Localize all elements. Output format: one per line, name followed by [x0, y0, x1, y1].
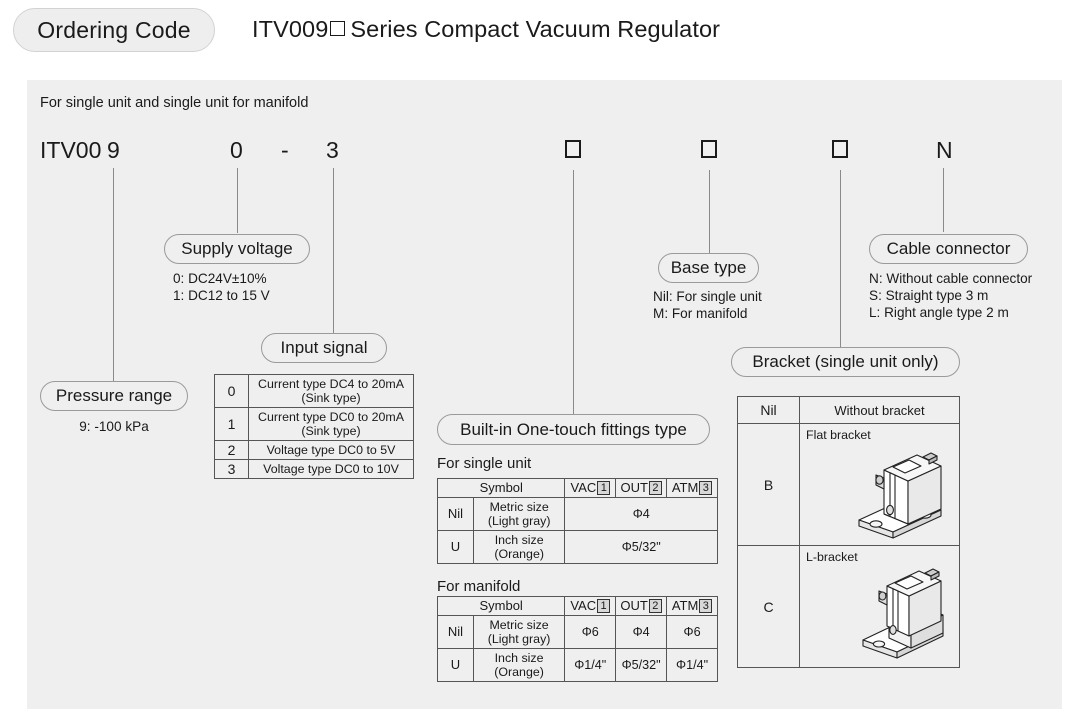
table-row: 1 Current type DC0 to 20mA (Sink type): [215, 408, 414, 441]
table-row: B Flat bracket: [738, 424, 960, 546]
series-code-prefix: ITV009: [252, 16, 328, 42]
callout-supply-voltage-label: Supply voltage: [181, 239, 293, 259]
callout-pressure-range: Pressure range: [40, 381, 188, 411]
code-base-type-box-icon: [701, 140, 717, 158]
col-vac: VAC1: [565, 597, 616, 616]
callout-fittings: Built-in One-touch fittings type: [437, 414, 710, 445]
col-symbol: Symbol: [438, 597, 565, 616]
col-out: OUT2: [616, 479, 667, 498]
table-row: Nil Metric size (Light gray) Φ4: [438, 498, 718, 531]
leader-line-cable-connector: [943, 168, 944, 232]
leader-line-base-type: [709, 170, 710, 253]
code-dash: -: [281, 139, 289, 162]
callout-supply-voltage: Supply voltage: [164, 234, 310, 264]
col-vac-text: VAC: [571, 480, 597, 495]
fitting-value-vac: Φ6: [565, 616, 616, 649]
col-atm: ATM3: [667, 479, 718, 498]
col-vac-text: VAC: [570, 598, 596, 613]
panel-subheading: For single unit and single unit for mani…: [40, 95, 308, 111]
code-supply-digit: 0: [230, 139, 243, 162]
code-base: ITV00: [40, 139, 101, 162]
input-signal-table: 0 Current type DC4 to 20mA (Sink type) 1…: [214, 374, 414, 479]
bracket-description: Without bracket: [800, 397, 960, 424]
table-row: U Inch size (Orange) Φ5/32": [438, 531, 718, 564]
leader-line-input-signal: [333, 168, 334, 334]
callout-input-signal-label: Input signal: [281, 338, 368, 358]
table-row: U Inch size (Orange) Φ1/4" Φ5/32" Φ1/4": [438, 649, 718, 682]
table-header-row: Nil Without bracket: [738, 397, 960, 424]
callout-input-signal: Input signal: [261, 333, 387, 363]
flat-bracket-regulator-illustration: [837, 436, 955, 543]
fitting-size-label: Inch size (Orange): [473, 649, 565, 682]
ordering-code-diagram: Ordering Code ITV009Series Compact Vacuu…: [0, 0, 1080, 728]
callout-base-type: Base type: [658, 253, 759, 283]
port-number-badge: 1: [597, 599, 610, 613]
fitting-value-all-ports: Φ4: [565, 498, 718, 531]
col-atm-text: ATM: [672, 598, 698, 613]
input-desc: Voltage type DC0 to 5V: [249, 441, 414, 460]
fittings-single-table: Symbol VAC1 OUT2 ATM3 Nil Metric size (L…: [437, 478, 718, 564]
ordering-code-badge: Ordering Code: [13, 8, 215, 52]
table-row: 2 Voltage type DC0 to 5V: [215, 441, 414, 460]
col-atm-text: ATM: [672, 480, 698, 495]
fitting-symbol: Nil: [438, 616, 474, 649]
bracket-image-cell: Flat bracket: [800, 424, 960, 546]
col-atm: ATM3: [667, 597, 718, 616]
col-out-text: OUT: [620, 480, 647, 495]
input-desc: Current type DC4 to 20mA (Sink type): [249, 375, 414, 408]
fittings-single-label: For single unit: [437, 455, 531, 472]
col-vac: VAC1: [565, 479, 616, 498]
leader-line-pressure-range: [113, 168, 114, 383]
port-number-badge: 2: [649, 481, 662, 495]
col-symbol: Symbol: [438, 479, 565, 498]
callout-bracket: Bracket (single unit only): [731, 347, 960, 377]
table-row: 3 Voltage type DC0 to 10V: [215, 460, 414, 479]
input-code: 0: [215, 375, 249, 408]
fittings-manifold-table: Symbol VAC1 OUT2 ATM3 Nil Metric size (L…: [437, 596, 718, 682]
code-pressure-digit: 9: [107, 139, 120, 162]
table-row: C L-bracket: [738, 546, 960, 668]
code-fitting-box-icon: [565, 140, 581, 158]
table-header-row: Symbol VAC1 OUT2 ATM3: [438, 479, 718, 498]
col-out-text: OUT: [620, 598, 647, 613]
callout-pressure-range-label: Pressure range: [56, 386, 172, 406]
bracket-table: Nil Without bracket B Flat bracket: [737, 396, 960, 668]
table-row: 0 Current type DC4 to 20mA (Sink type): [215, 375, 414, 408]
fitting-symbol: U: [438, 649, 474, 682]
input-code: 2: [215, 441, 249, 460]
col-out: OUT2: [616, 597, 667, 616]
fitting-value-out: Φ5/32": [616, 649, 667, 682]
port-number-badge: 3: [699, 481, 712, 495]
callout-cable-connector-label: Cable connector: [887, 239, 1011, 259]
port-number-badge: 3: [699, 599, 712, 613]
table-header-row: Symbol VAC1 OUT2 ATM3: [438, 597, 718, 616]
supply-voltage-note: 0: DC24V±10% 1: DC12 to 15 V: [173, 270, 333, 304]
fitting-value-out: Φ4: [616, 616, 667, 649]
code-cable-letter: N: [936, 139, 953, 162]
callout-base-type-label: Base type: [671, 258, 747, 278]
square-placeholder-icon: [330, 21, 345, 36]
input-desc: Voltage type DC0 to 10V: [249, 460, 414, 479]
leader-line-supply-voltage: [237, 168, 238, 233]
pressure-range-note: 9: -100 kPa: [40, 418, 188, 435]
base-type-note: Nil: For single unit M: For manifold: [653, 288, 833, 322]
ordering-code-badge-label: Ordering Code: [37, 17, 190, 44]
fitting-size-label: Inch size (Orange): [473, 531, 565, 564]
bracket-symbol: B: [738, 424, 800, 546]
callout-cable-connector: Cable connector: [869, 234, 1028, 264]
fittings-manifold-label: For manifold: [437, 578, 520, 595]
fitting-symbol: Nil: [438, 498, 474, 531]
bracket-symbol: Nil: [738, 397, 800, 424]
bracket-symbol: C: [738, 546, 800, 668]
input-desc: Current type DC0 to 20mA (Sink type): [249, 408, 414, 441]
port-number-badge: 2: [649, 599, 662, 613]
fitting-size-label: Metric size (Light gray): [473, 498, 565, 531]
fitting-value-all-ports: Φ5/32": [565, 531, 718, 564]
bracket-image-cell: L-bracket: [800, 546, 960, 668]
page-title: ITV009Series Compact Vacuum Regulator: [252, 16, 720, 43]
callout-fittings-label: Built-in One-touch fittings type: [460, 420, 687, 440]
input-code: 3: [215, 460, 249, 479]
code-signal-digit: 3: [326, 139, 339, 162]
l-bracket-regulator-illustration: [837, 558, 955, 665]
input-code: 1: [215, 408, 249, 441]
leader-line-fittings: [573, 170, 574, 414]
callout-bracket-label: Bracket (single unit only): [752, 352, 938, 372]
port-number-badge: 1: [597, 481, 610, 495]
fitting-value-vac: Φ1/4": [565, 649, 616, 682]
leader-line-bracket: [840, 170, 841, 347]
fitting-value-atm: Φ6: [667, 616, 718, 649]
cable-connector-note: N: Without cable connector S: Straight t…: [869, 270, 1079, 321]
fitting-value-atm: Φ1/4": [667, 649, 718, 682]
code-bracket-box-icon: [832, 140, 848, 158]
fitting-symbol: U: [438, 531, 474, 564]
fitting-size-label: Metric size (Light gray): [473, 616, 565, 649]
table-row: Nil Metric size (Light gray) Φ6 Φ4 Φ6: [438, 616, 718, 649]
series-title-suffix: Series Compact Vacuum Regulator: [350, 16, 720, 42]
